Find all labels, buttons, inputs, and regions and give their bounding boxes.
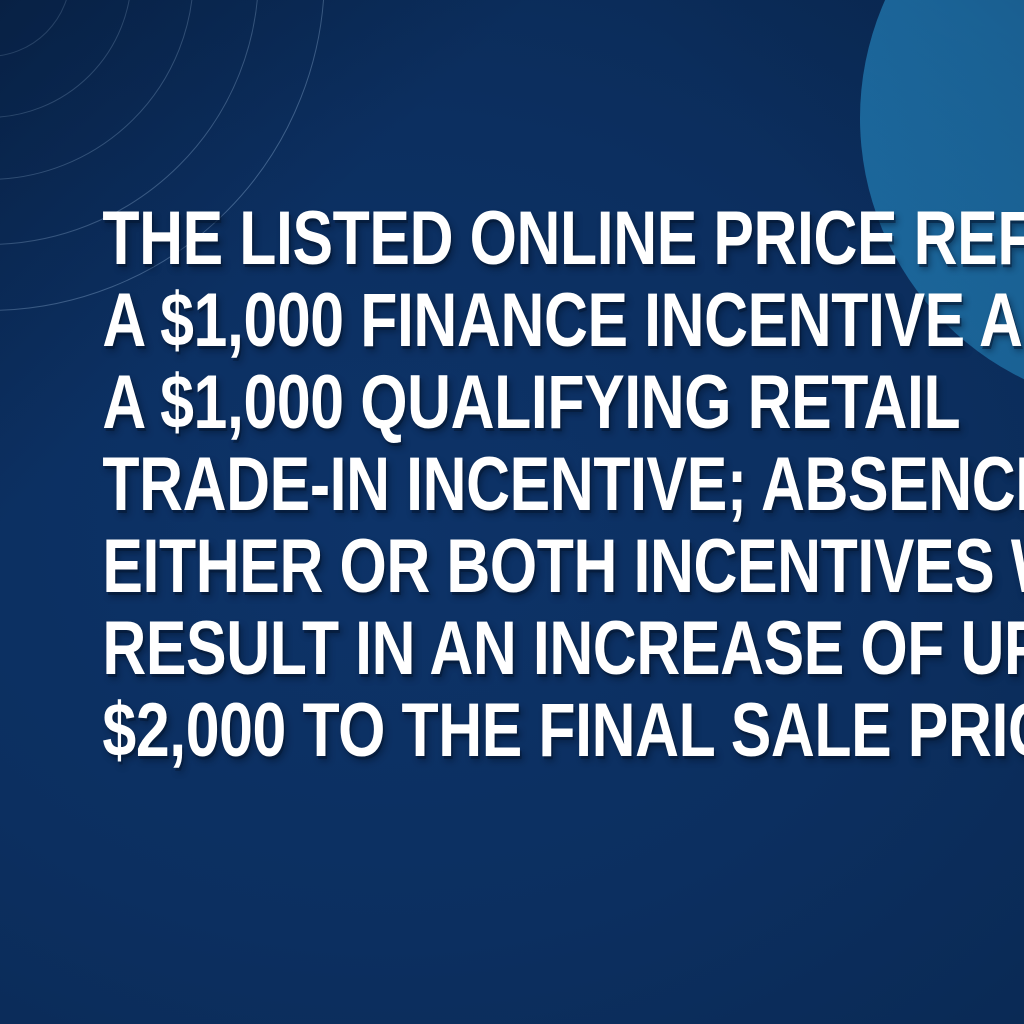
disclaimer-line-7: $2,000 TO THE FINAL SALE PRICE. [102,690,921,772]
disclaimer-headline: THE LISTED ONLINE PRICE REFLECTS A $1,00… [102,198,921,772]
disclaimer-graphic: THE LISTED ONLINE PRICE REFLECTS A $1,00… [0,0,1024,1024]
disclaimer-line-5: EITHER OR BOTH INCENTIVES WILL [102,526,921,608]
disclaimer-line-4: TRADE-IN INCENTIVE; ABSENCE OF [102,444,921,526]
disclaimer-line-2: A $1,000 FINANCE INCENTIVE AND [102,280,921,362]
disclaimer-line-3: A $1,000 QUALIFYING RETAIL [102,362,921,444]
disclaimer-line-6: RESULT IN AN INCREASE OF UP TO [102,608,921,690]
disclaimer-line-1: THE LISTED ONLINE PRICE REFLECTS [102,198,921,280]
